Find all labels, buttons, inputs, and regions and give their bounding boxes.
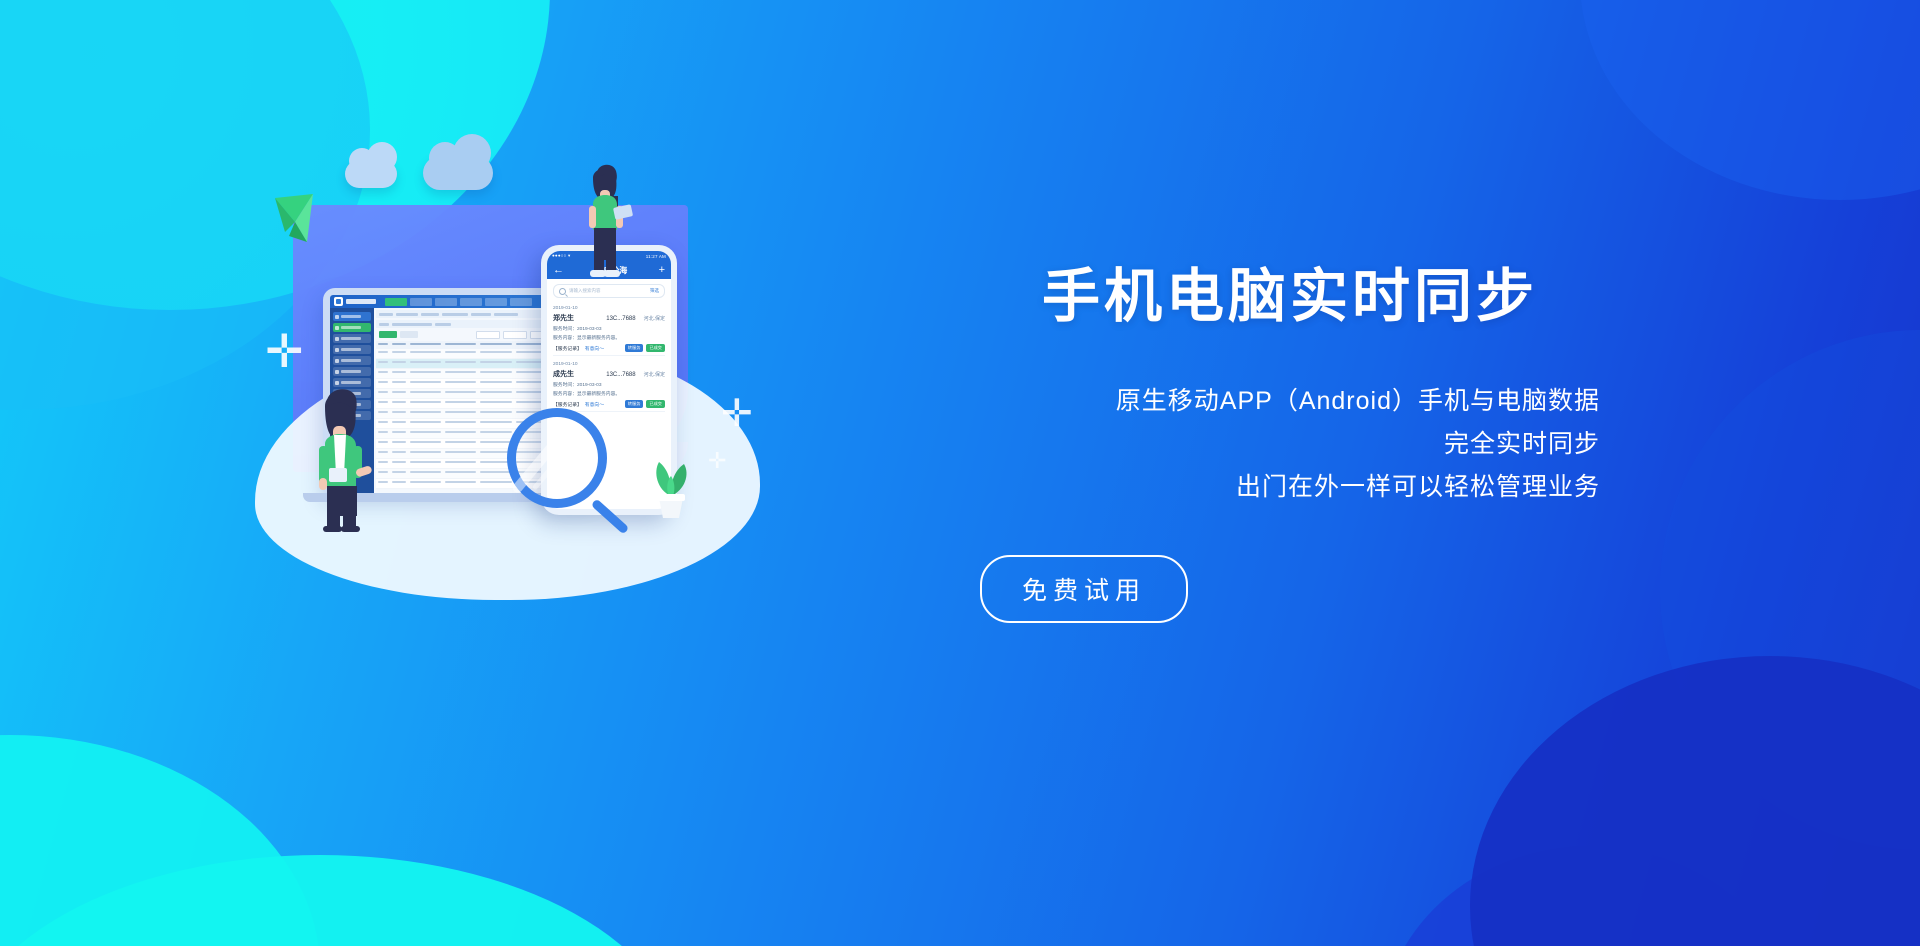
sidebar-item[interactable] <box>333 367 371 376</box>
card-service-time: 服务时间：2019-03-03 <box>553 381 665 388</box>
crm-filter-select[interactable] <box>476 331 500 339</box>
customer-card[interactable]: 2019-01-10 郑先生 13C...7688 河北.保定 服务时间：201… <box>553 303 665 356</box>
plus-decor-icon: ✛ <box>721 395 753 433</box>
subtitle-line-3: 出门在外一样可以轻松管理业务 <box>980 466 1600 509</box>
crm-tab-list <box>385 298 532 306</box>
status-time: 11:27 AM <box>646 254 666 259</box>
decor-blob-bottom-left <box>0 735 320 946</box>
crm-tab[interactable] <box>385 298 407 306</box>
crm-tab[interactable] <box>460 298 482 306</box>
decor-blob-bottom-left-2 <box>0 855 680 946</box>
crm-tab[interactable] <box>410 298 432 306</box>
back-arrow-icon[interactable]: ← <box>553 265 564 276</box>
decor-blob-top-right <box>1580 0 1920 200</box>
filter-button[interactable]: 筛选 <box>650 288 659 294</box>
add-icon[interactable]: + <box>659 265 665 276</box>
plus-decor-icon: ✛ <box>708 450 726 472</box>
sidebar-item[interactable] <box>333 323 371 332</box>
card-date: 2019-01-10 <box>553 362 665 367</box>
card-address: 河北.保定 <box>644 315 665 322</box>
decor-blob-right-middle <box>1660 330 1920 850</box>
potted-plant-icon <box>645 450 697 520</box>
crm-tab[interactable] <box>510 298 532 306</box>
sidebar-item[interactable] <box>333 334 371 343</box>
card-service-time: 服务时间：2019-03-03 <box>553 325 665 332</box>
card-address: 河北.保定 <box>644 371 665 378</box>
cloud-icon <box>423 156 493 190</box>
sidebar-item[interactable] <box>333 312 371 321</box>
free-trial-button[interactable]: 免费试用 <box>980 555 1188 623</box>
card-chip-service[interactable]: 转服务 <box>625 344 644 352</box>
subtitle-line-2: 完全实时同步 <box>980 423 1600 466</box>
crm-export-button[interactable] <box>400 331 418 338</box>
crm-add-button[interactable] <box>379 331 397 338</box>
woman-with-laptop-illustration <box>575 160 633 280</box>
hero-illustration: ✛ ✛ ✛ ✛ <box>245 150 765 600</box>
card-intent-link[interactable]: 有意向～ <box>585 345 604 352</box>
sidebar-item[interactable] <box>333 356 371 365</box>
signal-icon: ●●●○○ ▾ <box>552 253 571 259</box>
magnifier-icon <box>507 408 607 508</box>
card-phone: 13C...7688 <box>606 372 635 378</box>
card-service-content: 服务内容：显示最新服务内容。 <box>553 334 665 341</box>
sidebar-item[interactable] <box>333 345 371 354</box>
search-icon <box>559 288 566 295</box>
card-customer-name: 成先生 <box>553 369 574 379</box>
paper-plane-icon <box>273 192 343 262</box>
card-record-label: 【服务记录】 <box>553 345 582 352</box>
crm-tab[interactable] <box>485 298 507 306</box>
plus-decor-icon: ✛ <box>265 328 304 374</box>
page-title: 手机电脑实时同步 <box>980 268 1600 326</box>
crm-brand-label <box>346 299 376 304</box>
phone-search-input[interactable]: 请输入搜索内容 筛选 <box>553 284 665 298</box>
subtitle-line-1: 原生移动APP（Android）手机与电脑数据 <box>980 380 1600 423</box>
decor-blob-bottom-right <box>1470 656 1920 946</box>
woman-in-green-blazer-illustration <box>305 382 375 532</box>
decor-blob-bottom-right-2 <box>1380 846 1800 946</box>
card-service-content: 服务内容：显示最新服务内容。 <box>553 390 665 397</box>
card-chip-deal[interactable]: 已成交 <box>646 344 665 352</box>
hero-banner: ✛ ✛ ✛ ✛ <box>0 0 1920 946</box>
card-chip-service[interactable]: 转服务 <box>625 400 644 408</box>
customer-card[interactable]: 2019-01-10 成先生 13C...7688 河北.保定 服务时间：201… <box>553 359 665 412</box>
crm-filter-select[interactable] <box>503 331 527 339</box>
card-chip-deal[interactable]: 已成交 <box>646 400 665 408</box>
search-placeholder: 请输入搜索内容 <box>569 288 601 294</box>
cloud-icon <box>345 160 397 188</box>
card-record-label: 【服务记录】 <box>553 401 582 408</box>
hero-content: 手机电脑实时同步 原生移动APP（Android）手机与电脑数据 完全实时同步 … <box>980 268 1600 623</box>
card-intent-link[interactable]: 有意向～ <box>585 401 604 408</box>
card-date: 2019-01-10 <box>553 306 665 311</box>
crm-tab[interactable] <box>435 298 457 306</box>
card-customer-name: 郑先生 <box>553 313 574 323</box>
app-logo-icon <box>334 297 343 306</box>
card-phone: 13C...7688 <box>606 316 635 322</box>
